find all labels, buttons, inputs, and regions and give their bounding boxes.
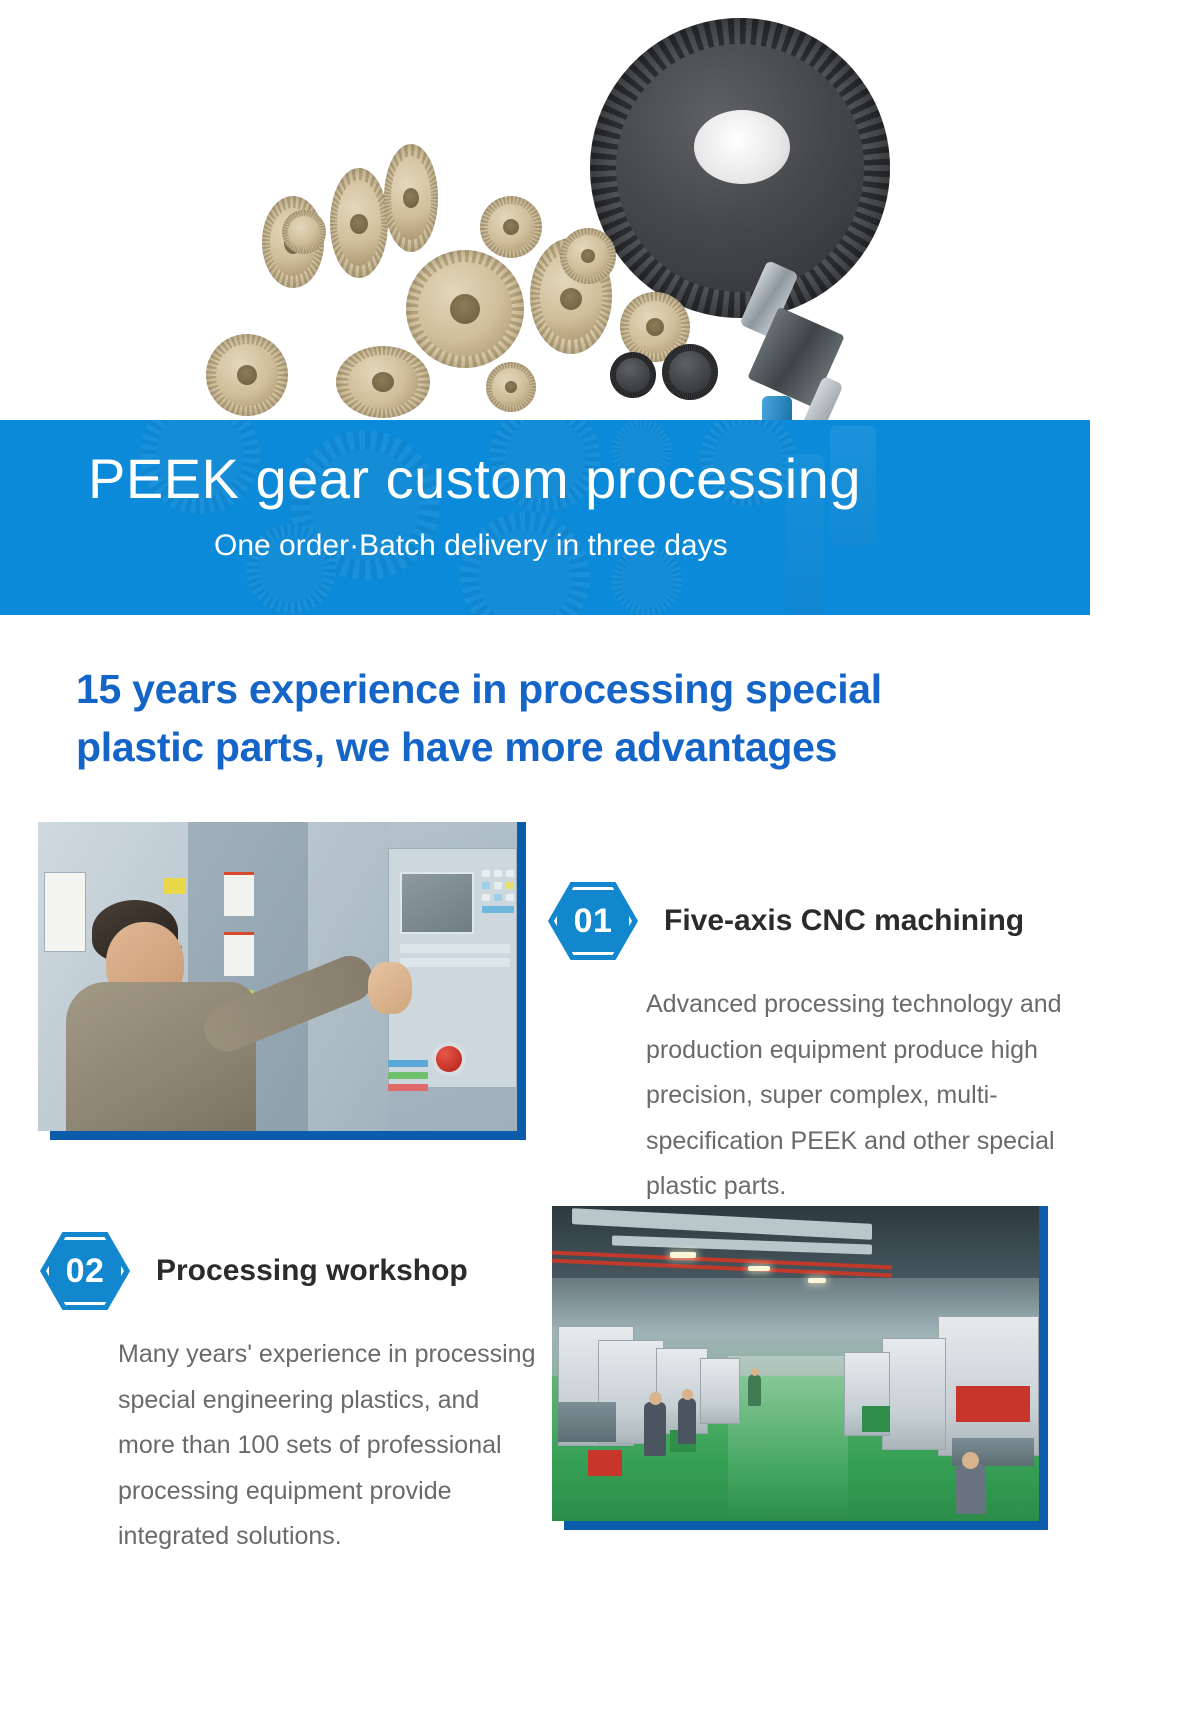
peek-gear-5: [406, 250, 524, 368]
peek-gear-4: [480, 196, 542, 258]
feature-02-text: 02 Processing workshop Many years' exper…: [40, 1232, 540, 1560]
section-heading-line-1: 15 years experience in processing specia…: [76, 660, 1086, 718]
peek-gear-7: [560, 228, 616, 284]
photo-frame-bottom-border: [564, 1521, 1048, 1530]
peek-gear-10: [336, 346, 430, 418]
feature-01-body: Advanced processing technology and produ…: [548, 982, 1078, 1210]
workshop-photo: [552, 1206, 1039, 1521]
feature-02-photo: [552, 1206, 1048, 1530]
carbon-gear-small-2: [662, 344, 718, 400]
photo-frame-bottom-border: [50, 1131, 526, 1140]
feature-01-number: 01: [548, 882, 638, 960]
feature-02-body: Many years' experience in processing spe…: [40, 1332, 540, 1560]
feature-01-header: 01 Five-axis CNC machining: [548, 882, 1078, 960]
peek-gear-3: [384, 144, 438, 252]
carbon-gear-small-1: [610, 352, 656, 398]
cnc-machine-photo: [38, 822, 517, 1131]
peek-gear-2: [330, 168, 388, 278]
section-heading: 15 years experience in processing specia…: [76, 660, 1086, 776]
banner-subtitle: One order·Batch delivery in three days: [214, 528, 728, 564]
peek-gear-11: [486, 362, 536, 412]
hero-banner: PEEK gear custom processing One order·Ba…: [0, 420, 1090, 615]
hexagon-badge-icon: 01: [548, 882, 638, 960]
feature-block-01: 01 Five-axis CNC machining Advanced proc…: [0, 822, 1200, 1182]
feature-02-number: 02: [40, 1232, 130, 1310]
banner-title: PEEK gear custom processing: [88, 448, 861, 510]
peek-gear-9: [206, 334, 288, 416]
section-heading-line-2: plastic parts, we have more advantages: [76, 718, 1086, 776]
photo-frame-right-border: [1039, 1206, 1048, 1530]
gear-product-photo: [0, 0, 1090, 430]
hero-section: PEEK gear custom processing One order·Ba…: [0, 0, 1090, 620]
photo-frame-right-border: [517, 822, 526, 1140]
carbon-gear-large: [590, 18, 890, 318]
feature-01-photo: [38, 822, 526, 1140]
feature-02-header: 02 Processing workshop: [40, 1232, 540, 1310]
feature-01-text: 01 Five-axis CNC machining Advanced proc…: [548, 882, 1078, 1210]
peek-gear-12: [282, 210, 326, 254]
feature-01-title: Five-axis CNC machining: [664, 903, 1024, 939]
product-feature-page: PEEK gear custom processing One order·Ba…: [0, 0, 1200, 1732]
feature-02-title: Processing workshop: [156, 1253, 468, 1289]
feature-block-02: 02 Processing workshop Many years' exper…: [0, 1200, 1200, 1732]
hexagon-badge-icon: 02: [40, 1232, 130, 1310]
